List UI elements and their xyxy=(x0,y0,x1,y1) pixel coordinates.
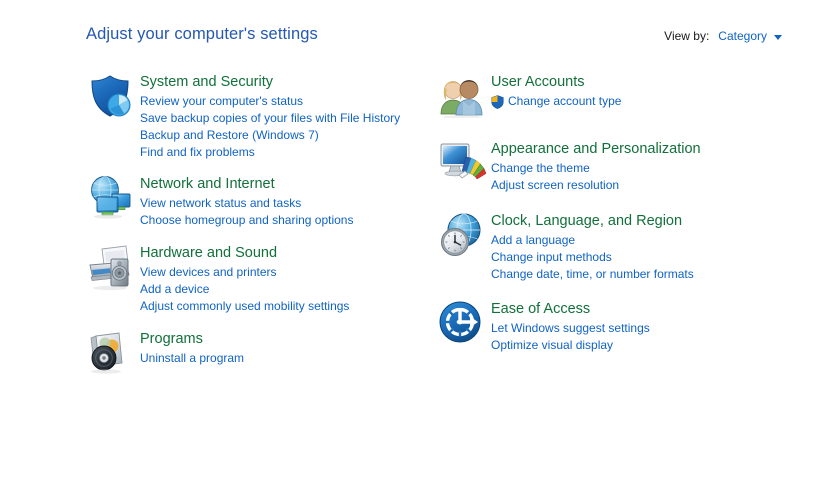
category-title[interactable]: Network and Internet xyxy=(140,175,353,193)
page-title: Adjust your computer's settings xyxy=(86,25,318,44)
category-title[interactable]: Programs xyxy=(140,330,244,348)
category-body: Clock, Language, and Region Add a langua… xyxy=(491,211,694,283)
category-link[interactable]: Find and fix problems xyxy=(140,144,400,161)
category-body: User Accounts Change account type xyxy=(491,72,621,110)
category-link[interactable]: Review your computer's status xyxy=(140,93,400,110)
chevron-down-icon[interactable] xyxy=(774,35,782,40)
category-link[interactable]: Adjust screen resolution xyxy=(491,177,701,194)
category-body: Hardware and Sound View devices and prin… xyxy=(140,243,349,315)
category-hardware-and-sound[interactable]: Hardware and Sound View devices and prin… xyxy=(86,243,416,315)
monitor-color-palette-icon xyxy=(437,139,491,189)
view-by-value[interactable]: Category xyxy=(718,29,767,43)
category-user-accounts[interactable]: User Accounts Change account type xyxy=(437,72,767,122)
uac-shield-icon xyxy=(491,95,504,109)
category-column-left: System and Security Review your computer… xyxy=(86,72,416,393)
category-body: Ease of Access Let Windows suggest setti… xyxy=(491,299,650,354)
category-link[interactable]: Save backup copies of your files with Fi… xyxy=(140,110,400,127)
category-programs[interactable]: Programs Uninstall a program xyxy=(86,329,416,379)
category-link[interactable]: Add a language xyxy=(491,232,694,249)
view-by-control[interactable]: View by: Category xyxy=(664,29,782,43)
category-link[interactable]: Adjust commonly used mobility settings xyxy=(140,298,349,315)
category-link[interactable]: Uninstall a program xyxy=(140,350,244,367)
category-title[interactable]: Ease of Access xyxy=(491,300,650,318)
category-title[interactable]: Clock, Language, and Region xyxy=(491,212,694,230)
control-panel-page: Adjust your computer's settings View by:… xyxy=(0,0,815,496)
category-title[interactable]: System and Security xyxy=(140,73,400,91)
category-network-and-internet[interactable]: Network and Internet View network status… xyxy=(86,174,416,229)
category-clock-language-and-region[interactable]: Clock, Language, and Region Add a langua… xyxy=(437,211,767,283)
category-title[interactable]: Hardware and Sound xyxy=(140,244,349,262)
category-link[interactable]: View devices and printers xyxy=(140,264,349,281)
category-link[interactable]: Change the theme xyxy=(491,160,701,177)
category-title[interactable]: Appearance and Personalization xyxy=(491,140,701,158)
ease-of-access-icon xyxy=(437,299,491,349)
shield-icon xyxy=(86,72,140,122)
category-link[interactable]: Change account type xyxy=(491,93,621,110)
category-title[interactable]: User Accounts xyxy=(491,73,621,91)
category-body: Programs Uninstall a program xyxy=(140,329,244,367)
view-by-label: View by: xyxy=(664,29,709,43)
category-link[interactable]: Add a device xyxy=(140,281,349,298)
printer-speaker-icon xyxy=(86,243,140,293)
programs-disc-box-icon xyxy=(86,329,140,379)
globe-clock-icon xyxy=(437,211,491,261)
category-link[interactable]: View network status and tasks xyxy=(140,195,353,212)
category-link[interactable]: Change date, time, or number formats xyxy=(491,266,694,283)
category-appearance-and-personalization[interactable]: Appearance and Personalization Change th… xyxy=(437,139,767,194)
category-body: Network and Internet View network status… xyxy=(140,174,353,229)
category-link[interactable]: Choose homegroup and sharing options xyxy=(140,212,353,229)
category-link[interactable]: Optimize visual display xyxy=(491,337,650,354)
category-link[interactable]: Backup and Restore (Windows 7) xyxy=(140,127,400,144)
category-body: Appearance and Personalization Change th… xyxy=(491,139,701,194)
category-ease-of-access[interactable]: Ease of Access Let Windows suggest setti… xyxy=(437,299,767,354)
category-body: System and Security Review your computer… xyxy=(140,72,400,161)
category-link-label: Change account type xyxy=(508,93,621,110)
network-globe-monitors-icon xyxy=(86,174,140,224)
category-system-and-security[interactable]: System and Security Review your computer… xyxy=(86,72,416,161)
category-column-right: User Accounts Change account type xyxy=(437,72,767,368)
user-accounts-people-icon xyxy=(437,72,491,122)
category-link[interactable]: Let Windows suggest settings xyxy=(491,320,650,337)
category-link[interactable]: Change input methods xyxy=(491,249,694,266)
